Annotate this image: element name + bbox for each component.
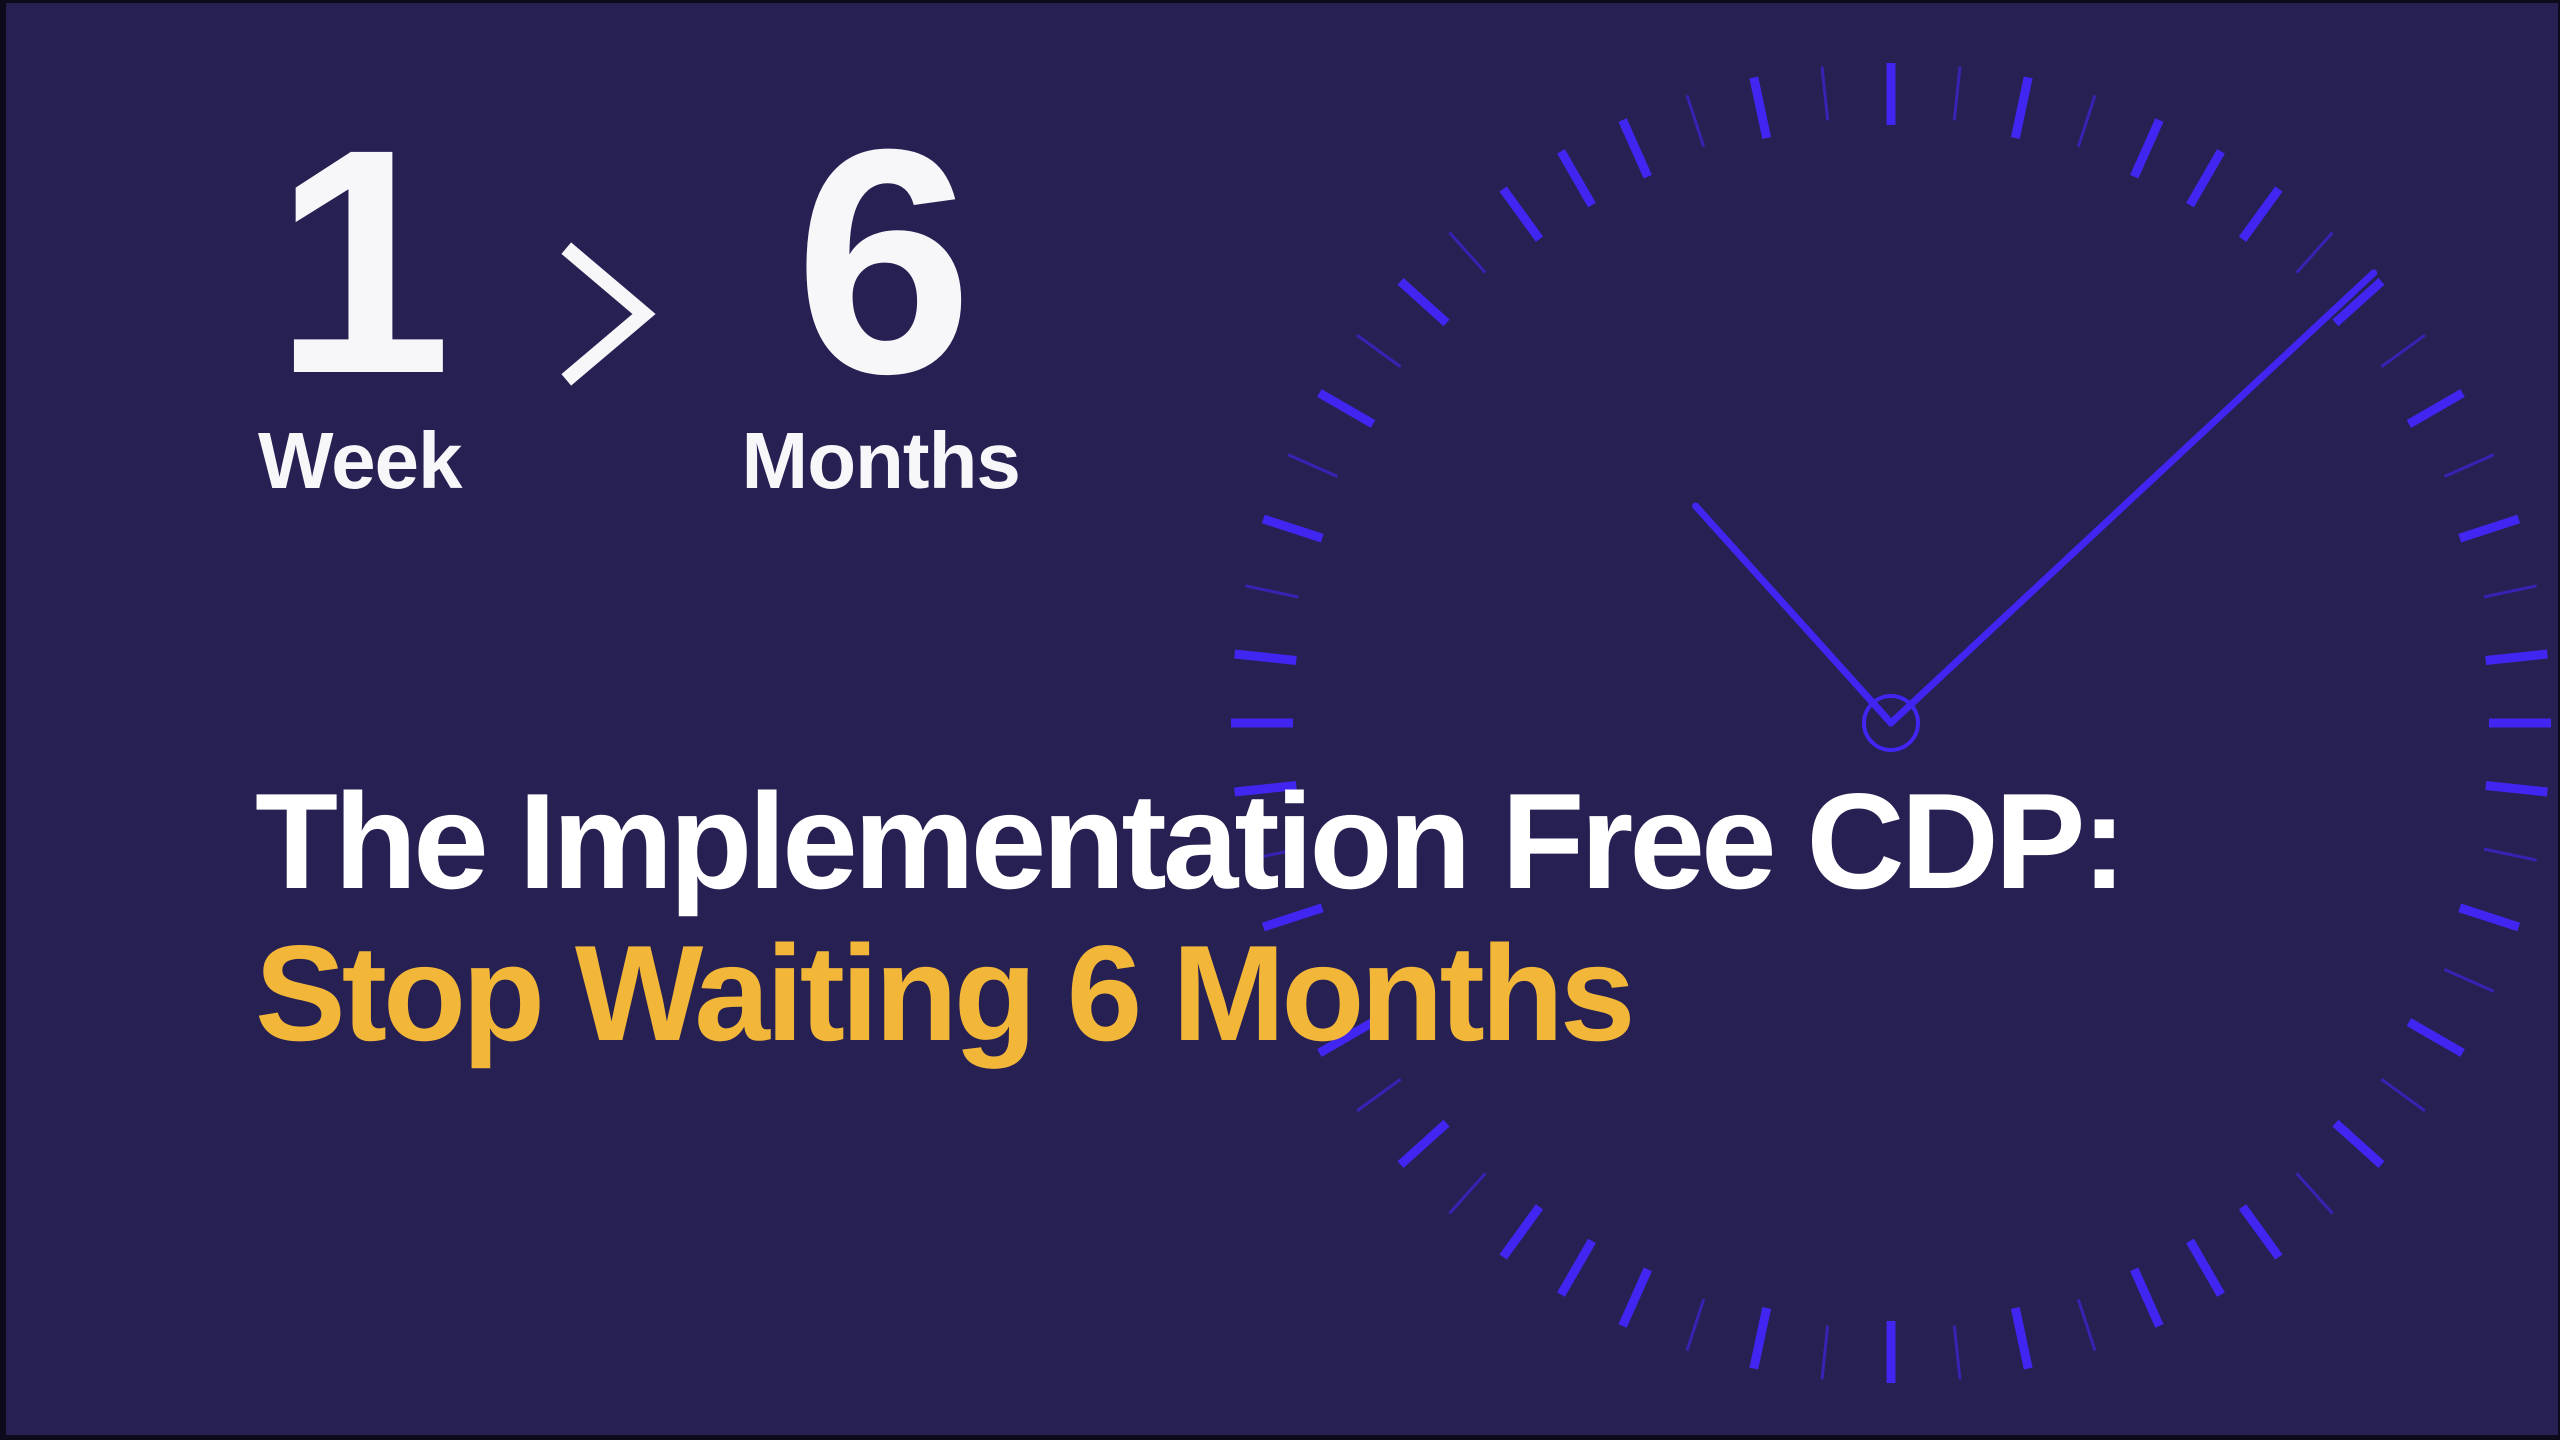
clock-tick-minor xyxy=(2445,970,2494,992)
clock-tick-marks xyxy=(1231,63,2551,1383)
clock-tick-minor xyxy=(1357,1079,1401,1111)
clock-tick-major xyxy=(1401,1123,1447,1165)
clock-tick-minor xyxy=(2484,586,2537,597)
stat-block-fast: 1 Week xyxy=(258,121,462,501)
clock-tick-major xyxy=(2486,654,2548,661)
clock-center-hub xyxy=(1864,696,1918,750)
clock-tick-major xyxy=(2190,151,2221,205)
clock-tick-minor xyxy=(1954,67,1960,121)
chevron-right-icon xyxy=(554,121,664,394)
clock-tick-major xyxy=(1623,120,1648,177)
clock-tick-minor xyxy=(1288,455,1337,477)
clock-tick-minor xyxy=(1357,335,1401,367)
clock-tick-minor xyxy=(2381,1079,2425,1111)
clock-tick-major xyxy=(2486,786,2548,793)
clock-tick-minor xyxy=(1822,1326,1828,1380)
clock-tick-major xyxy=(2460,908,2519,927)
headline-line-primary: The Implementation Free CDP: xyxy=(255,773,2255,909)
clock-tick-major xyxy=(2134,120,2159,177)
clock-tick-major xyxy=(2335,281,2381,323)
clock-tick-major xyxy=(1263,519,1322,538)
clock-tick-minor xyxy=(2484,849,2537,860)
clock-tick-major xyxy=(1561,151,1592,205)
clock-tick-minor xyxy=(2078,1299,2095,1350)
stat-label-fast: Week xyxy=(258,421,462,501)
clock-tick-major xyxy=(1401,281,1447,323)
clock-minute-hand xyxy=(1891,273,2374,723)
clock-tick-major xyxy=(1235,654,1297,661)
clock-tick-minor xyxy=(2445,455,2494,477)
clock-tick-major xyxy=(2015,1308,2028,1369)
clock-tick-major xyxy=(2409,1022,2463,1053)
clock-tick-major xyxy=(1754,77,1767,138)
clock-tick-minor xyxy=(1449,1173,1485,1213)
clock-tick-minor xyxy=(2078,95,2095,146)
clock-tick-major xyxy=(1561,1241,1592,1295)
stat-comparison: 1 Week 6 Months xyxy=(258,121,1020,501)
clock-hands xyxy=(1696,273,2374,750)
clock-tick-major xyxy=(2460,519,2519,538)
clock-tick-major xyxy=(2243,1207,2279,1257)
clock-tick-major xyxy=(2335,1123,2381,1165)
headline-line-accent: Stop Waiting 6 Months xyxy=(255,925,2255,1061)
clock-tick-major xyxy=(1503,189,1539,239)
stat-value-slow: 6 xyxy=(795,121,967,403)
clock-tick-minor xyxy=(2381,335,2425,367)
clock-hour-hand xyxy=(1696,506,1891,723)
stat-block-slow: 6 Months xyxy=(742,121,1020,501)
clock-tick-major xyxy=(2134,1269,2159,1326)
stat-value-fast: 1 xyxy=(274,121,446,403)
clock-tick-minor xyxy=(1687,1299,1704,1350)
clock-tick-minor xyxy=(1687,95,1704,146)
clock-tick-major xyxy=(2015,77,2028,138)
stat-label-slow: Months xyxy=(742,421,1020,501)
clock-tick-minor xyxy=(2297,1173,2333,1213)
clock-tick-major xyxy=(2409,393,2463,424)
clock-tick-minor xyxy=(1954,1326,1960,1380)
clock-tick-major xyxy=(1623,1269,1648,1326)
clock-tick-minor xyxy=(2297,233,2333,273)
clock-tick-major xyxy=(2243,189,2279,239)
clock-tick-major xyxy=(1319,393,1373,424)
clock-tick-minor xyxy=(1245,586,1298,597)
headline: The Implementation Free CDP: Stop Waitin… xyxy=(255,773,2255,1061)
clock-tick-minor xyxy=(1822,67,1828,121)
clock-tick-minor xyxy=(1449,233,1485,273)
clock-tick-major xyxy=(2190,1241,2221,1295)
promo-banner: 1 Week 6 Months The Implementation Free … xyxy=(0,0,2560,1440)
clock-tick-major xyxy=(1754,1308,1767,1369)
clock-tick-major xyxy=(1503,1207,1539,1257)
